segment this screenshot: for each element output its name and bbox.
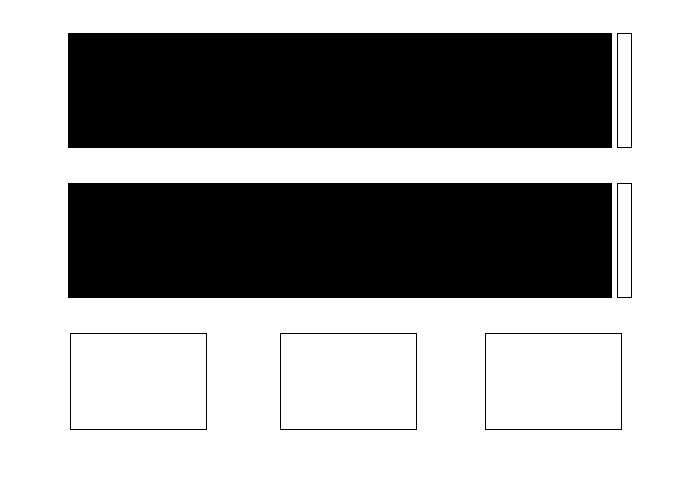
bottom-panel-2-plot[interactable] <box>280 333 417 430</box>
bottom-panel-1-plot[interactable] <box>70 333 207 430</box>
middle-colorbar[interactable] <box>617 183 632 298</box>
top-spectrogram-plot[interactable] <box>68 33 612 148</box>
middle-spectrogram-plot[interactable] <box>68 183 612 298</box>
bottom-panel-3-plot[interactable] <box>485 333 622 430</box>
top-colorbar[interactable] <box>617 33 632 148</box>
